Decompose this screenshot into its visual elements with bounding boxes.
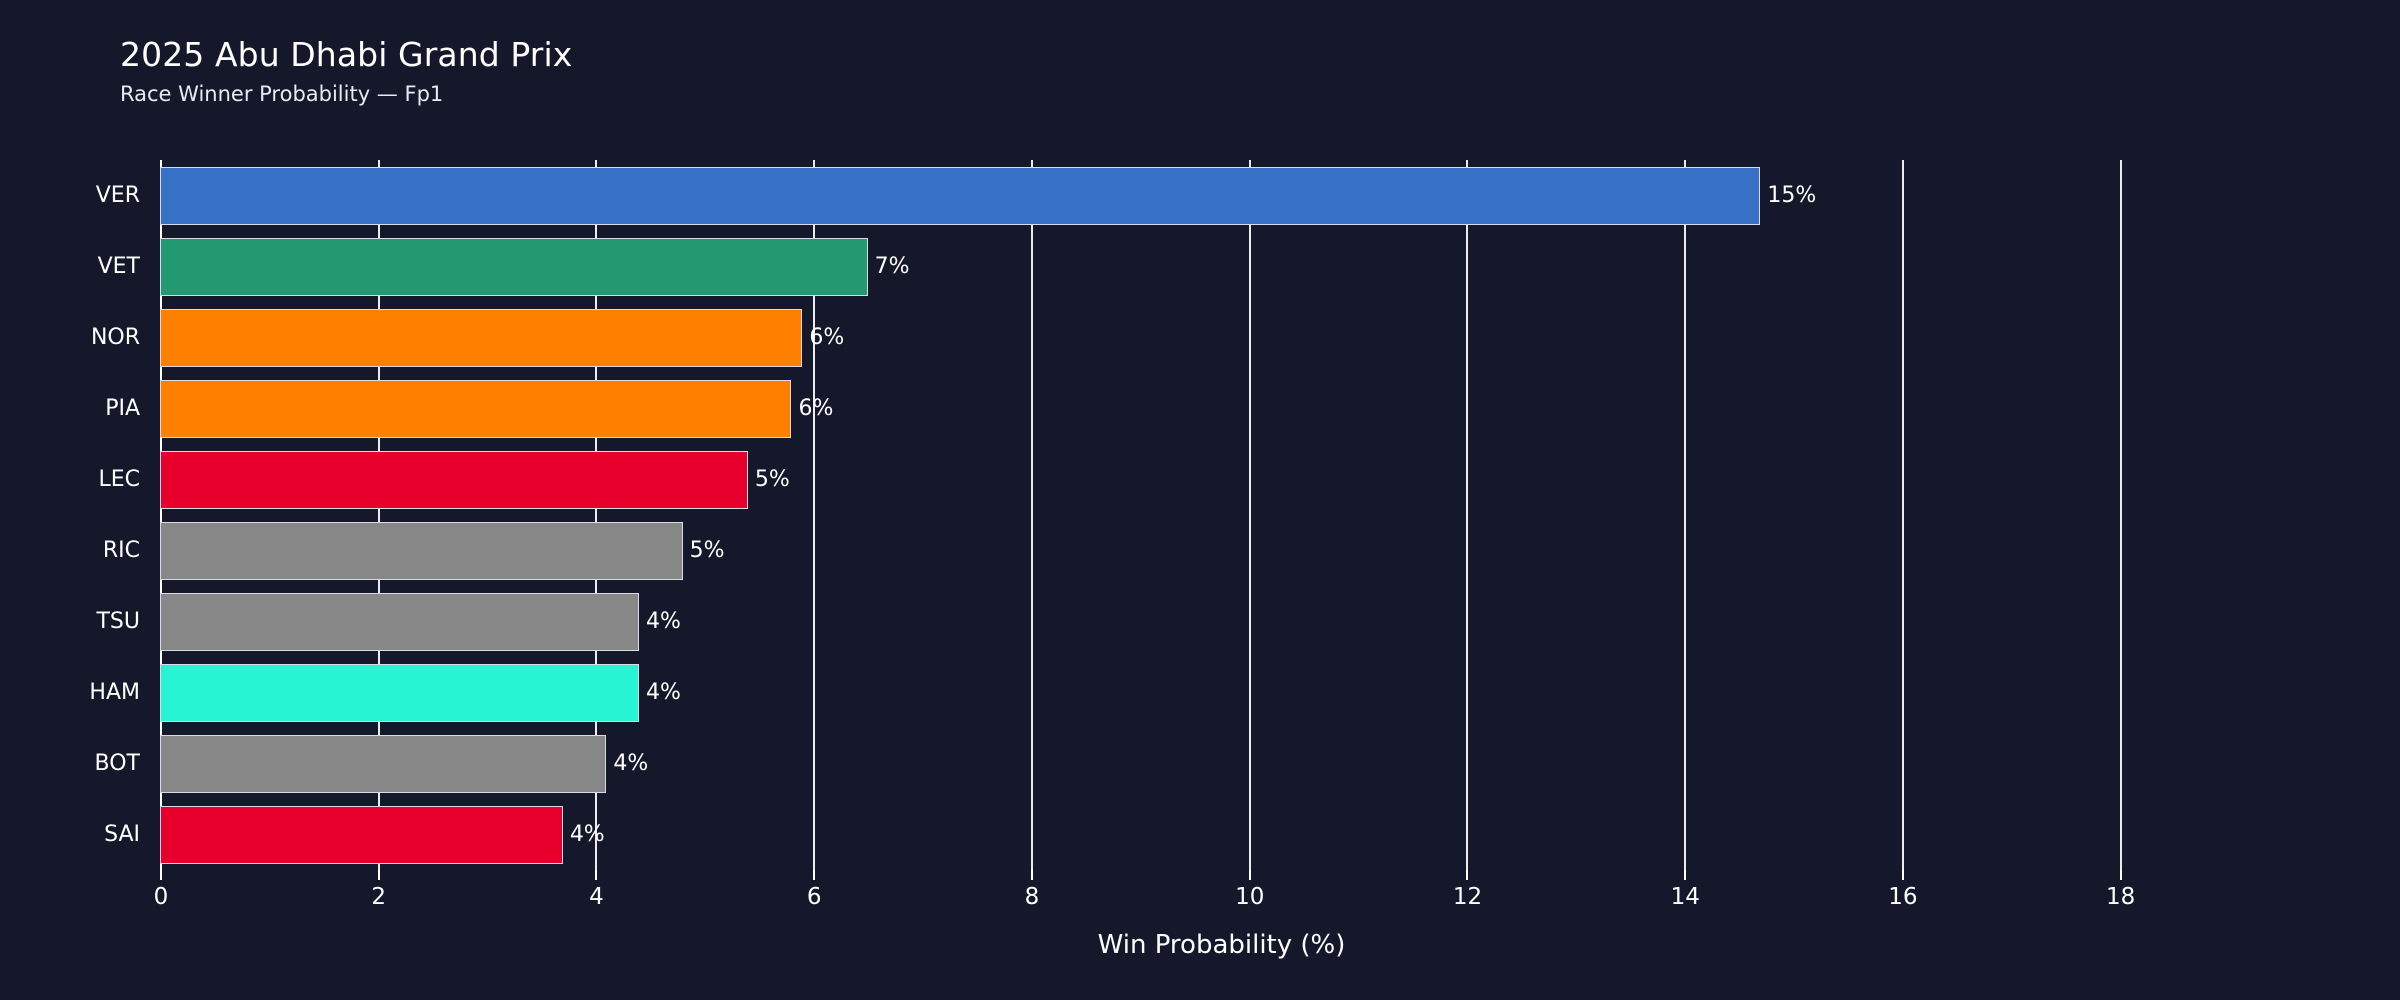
y-tick-label-lec: LEC bbox=[98, 451, 140, 509]
x-tick-label-14: 14 bbox=[1671, 884, 1700, 910]
bar-sai[interactable] bbox=[160, 806, 563, 864]
bar-value-label: 15% bbox=[1767, 185, 1816, 207]
x-axis-title: Win Probability (%) bbox=[160, 930, 2283, 960]
bar-row[interactable]: 5% bbox=[160, 522, 2283, 580]
y-tick-label-pia: PIA bbox=[105, 380, 140, 438]
x-tick-mark-12 bbox=[1466, 870, 1468, 880]
x-tick-mark-18 bbox=[2120, 870, 2122, 880]
x-tick-label-10: 10 bbox=[1235, 884, 1264, 910]
bar-value-label: 6% bbox=[809, 327, 844, 349]
page-title: 2025 Abu Dhabi Grand Prix bbox=[120, 36, 572, 74]
bar-value-label: 5% bbox=[690, 540, 725, 562]
y-tick-label-vet: VET bbox=[98, 238, 140, 296]
bars: 15%7%6%6%5%5%4%4%4%4% bbox=[160, 160, 2283, 870]
y-tick-label-bot: BOT bbox=[95, 735, 140, 793]
y-axis-labels: VERVETNORPIALECRICTSUHAMBOTSAI bbox=[0, 160, 152, 870]
y-tick-label-sai: SAI bbox=[104, 806, 140, 864]
bar-row[interactable]: 6% bbox=[160, 380, 2283, 438]
x-tick-mark-10 bbox=[1249, 870, 1251, 880]
x-tick-mark-6 bbox=[813, 870, 815, 880]
bar-nor[interactable] bbox=[160, 309, 802, 367]
x-tick-label-4: 4 bbox=[589, 884, 604, 910]
y-tick-label-tsu: TSU bbox=[96, 593, 140, 651]
bar-vet[interactable] bbox=[160, 238, 868, 296]
x-tick-label-0: 0 bbox=[154, 884, 169, 910]
x-tick-mark-8 bbox=[1031, 870, 1033, 880]
bar-value-label: 4% bbox=[570, 824, 605, 846]
chart-figure: 2025 Abu Dhabi Grand Prix Race Winner Pr… bbox=[0, 0, 2400, 1000]
bar-row[interactable]: 7% bbox=[160, 238, 2283, 296]
bar-value-label: 4% bbox=[613, 753, 648, 775]
x-tick-label-2: 2 bbox=[371, 884, 386, 910]
chart-subtitle: Race Winner Probability — Fp1 bbox=[120, 82, 572, 106]
x-tick-label-12: 12 bbox=[1453, 884, 1482, 910]
plot-area: 15%7%6%6%5%5%4%4%4%4% bbox=[160, 160, 2283, 870]
bar-row[interactable]: 5% bbox=[160, 451, 2283, 509]
bar-value-label: 6% bbox=[798, 398, 833, 420]
x-tick-label-6: 6 bbox=[807, 884, 822, 910]
bar-row[interactable]: 4% bbox=[160, 806, 2283, 864]
bar-row[interactable]: 4% bbox=[160, 664, 2283, 722]
bar-value-label: 4% bbox=[646, 611, 681, 633]
x-tick-mark-14 bbox=[1684, 870, 1686, 880]
bar-value-label: 7% bbox=[875, 256, 910, 278]
bar-value-label: 4% bbox=[646, 682, 681, 704]
y-tick-label-ver: VER bbox=[96, 167, 140, 225]
bar-lec[interactable] bbox=[160, 451, 748, 509]
title-block: 2025 Abu Dhabi Grand Prix Race Winner Pr… bbox=[120, 36, 572, 106]
x-tick-mark-0 bbox=[160, 870, 162, 880]
x-tick-label-18: 18 bbox=[2106, 884, 2135, 910]
bar-tsu[interactable] bbox=[160, 593, 639, 651]
bar-ver[interactable] bbox=[160, 167, 1760, 225]
bar-pia[interactable] bbox=[160, 380, 791, 438]
y-tick-label-ric: RIC bbox=[103, 522, 140, 580]
bar-ham[interactable] bbox=[160, 664, 639, 722]
bar-row[interactable]: 4% bbox=[160, 593, 2283, 651]
x-tick-mark-2 bbox=[378, 870, 380, 880]
bar-row[interactable]: 6% bbox=[160, 309, 2283, 367]
x-tick-label-8: 8 bbox=[1025, 884, 1040, 910]
x-tick-mark-16 bbox=[1902, 870, 1904, 880]
x-axis: 024681012141618 bbox=[160, 870, 2283, 930]
x-tick-mark-4 bbox=[595, 870, 597, 880]
bar-ric[interactable] bbox=[160, 522, 683, 580]
x-tick-label-16: 16 bbox=[1888, 884, 1917, 910]
y-tick-label-nor: NOR bbox=[91, 309, 140, 367]
bar-value-label: 5% bbox=[755, 469, 790, 491]
bar-row[interactable]: 15% bbox=[160, 167, 2283, 225]
y-tick-label-ham: HAM bbox=[89, 664, 140, 722]
bar-row[interactable]: 4% bbox=[160, 735, 2283, 793]
bar-bot[interactable] bbox=[160, 735, 606, 793]
